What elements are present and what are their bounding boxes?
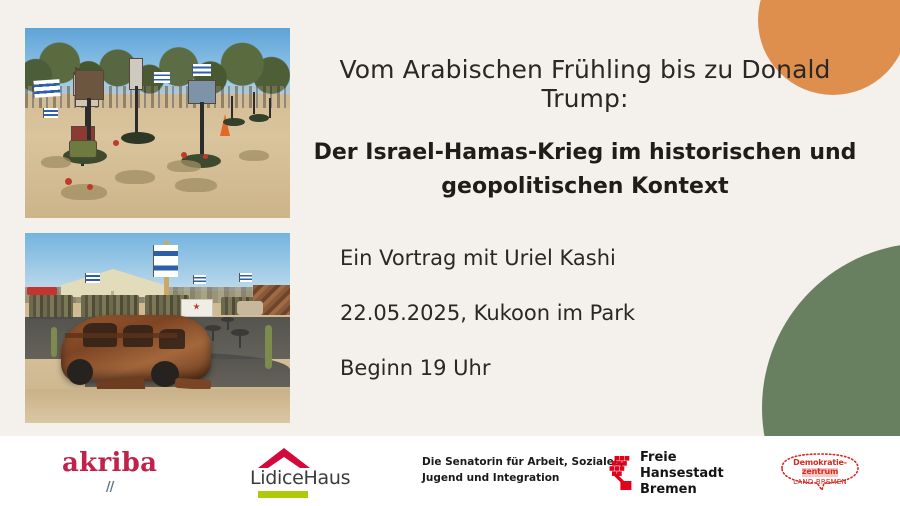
bremen-line-2: Hansestadt bbox=[640, 466, 724, 482]
event-poster: Vom Arabischen Frühling bis zu Donald Tr… bbox=[0, 0, 900, 506]
date-venue-line: 22.05.2025, Kukoon im Park bbox=[340, 303, 860, 324]
headline-line-1: Vom Arabischen Frühling bis zu Donald Tr… bbox=[300, 56, 870, 114]
logo-freie-hansestadt-bremen: Freie Hansestadt Bremen bbox=[604, 450, 724, 498]
speech-bubble-icon: Demokratie- zentrum LAND BREMEN bbox=[776, 452, 864, 492]
lidicehaus-wordmark: LidiceHaus bbox=[250, 469, 350, 488]
akriba-slashes: // bbox=[62, 480, 157, 495]
house-roof-icon bbox=[258, 448, 310, 468]
bremen-wordmark: Freie Hansestadt Bremen bbox=[640, 450, 724, 498]
logo-demokratiezentrum: Demokratie- zentrum LAND BREMEN bbox=[776, 452, 864, 492]
headline-line-2: Der Israel-Hamas-Krieg im historischen u… bbox=[300, 136, 870, 170]
headline-line-3: geopolitischen Kontext bbox=[300, 170, 870, 204]
bremen-line-1: Freie bbox=[640, 450, 724, 466]
demokratiezentrum-line-2: zentrum bbox=[802, 468, 838, 477]
demokratiezentrum-line-3: LAND BREMEN bbox=[793, 477, 847, 488]
akriba-wordmark: akriba bbox=[62, 450, 157, 476]
event-details-block: Ein Vortrag mit Uriel Kashi 22.05.2025, … bbox=[340, 248, 860, 379]
burnt-car-photo bbox=[25, 233, 290, 423]
senatorin-line-2: Jugend und Integration bbox=[422, 471, 624, 487]
headline-block: Vom Arabischen Frühling bis zu Donald Tr… bbox=[300, 56, 870, 204]
bremen-key-icon bbox=[604, 452, 634, 495]
lidicehaus-green-bar bbox=[258, 491, 308, 498]
logo-akriba: akriba // bbox=[62, 450, 157, 495]
senatorin-line-1: Die Senatorin für Arbeit, Soziales, bbox=[422, 455, 624, 471]
time-line: Beginn 19 Uhr bbox=[340, 358, 860, 379]
speaker-line: Ein Vortrag mit Uriel Kashi bbox=[340, 248, 860, 269]
memorial-site-photo bbox=[25, 28, 290, 218]
logo-senatorin: Die Senatorin für Arbeit, Soziales, Juge… bbox=[422, 455, 624, 487]
bremen-line-3: Bremen bbox=[640, 482, 724, 498]
logo-lidicehaus: LidiceHaus bbox=[250, 448, 350, 498]
